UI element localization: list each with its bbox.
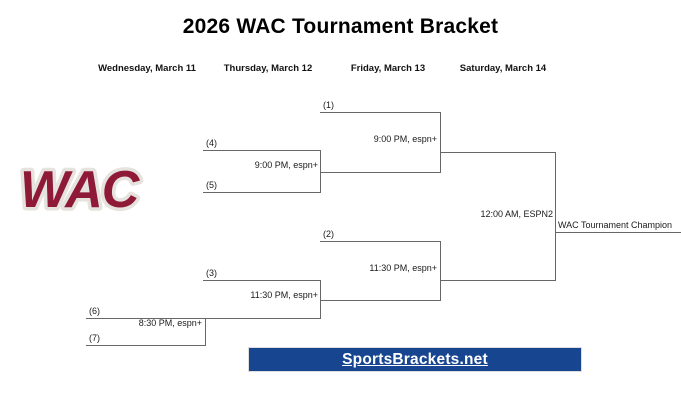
bracket-connector-first-round xyxy=(205,318,206,346)
wac-logo: WAC WAC xyxy=(18,158,190,220)
bracket-line-seed-4 xyxy=(203,150,321,151)
round-header-friday: Friday, March 13 xyxy=(351,63,425,74)
bracket-line-seed-7 xyxy=(86,345,205,346)
bracket-line-semifinal-top-feed xyxy=(320,172,441,173)
page-title: 2026 WAC Tournament Bracket xyxy=(0,15,681,39)
bracket-page: 2026 WAC Tournament Bracket Wednesday, M… xyxy=(0,0,681,400)
bracket-connector-semifinal-top xyxy=(440,112,441,173)
seed-label-6: (6) xyxy=(89,306,100,316)
bracket-connector-semifinal-bottom xyxy=(440,241,441,301)
seed-label-7: (7) xyxy=(89,333,100,343)
seed-label-5: (5) xyxy=(206,180,217,190)
bracket-line-seed-1 xyxy=(320,112,441,113)
bracket-connector-championship xyxy=(555,152,556,281)
game-label-quarterfinal-bottom: 11:30 PM, espn+ xyxy=(214,290,318,300)
bracket-line-first-round-winner xyxy=(205,318,320,319)
bracket-line-seed-2 xyxy=(320,241,441,242)
sportsbrackets-banner-text: SportsBrackets.net xyxy=(342,351,488,369)
sportsbrackets-banner[interactable]: SportsBrackets.net xyxy=(248,347,582,372)
bracket-line-semifinal-bottom-feed xyxy=(320,300,441,301)
game-label-first-round-6-7: 8:30 PM, espn+ xyxy=(105,318,202,328)
seed-label-3: (3) xyxy=(206,268,217,278)
game-label-championship: 12:00 AM, ESPN2 xyxy=(452,209,553,219)
round-header-wednesday: Wednesday, March 11 xyxy=(98,63,196,74)
bracket-line-championship-top xyxy=(440,152,556,153)
bracket-line-seed-5 xyxy=(203,192,321,193)
wac-logo-graphic: WAC WAC xyxy=(18,158,190,220)
champion-label: WAC Tournament Champion xyxy=(558,220,672,230)
wac-logo-text: WAC xyxy=(20,161,141,219)
game-label-semifinal-top: 9:00 PM, espn+ xyxy=(341,134,437,144)
round-header-thursday: Thursday, March 12 xyxy=(224,63,313,74)
bracket-line-championship-bottom xyxy=(440,280,556,281)
game-label-semifinal-bottom: 11:30 PM, espn+ xyxy=(333,263,437,273)
seed-label-1: (1) xyxy=(323,100,334,110)
seed-label-2: (2) xyxy=(323,229,334,239)
round-header-saturday: Saturday, March 14 xyxy=(460,63,546,74)
seed-label-4: (4) xyxy=(206,138,217,148)
bracket-line-champion xyxy=(555,232,681,233)
bracket-line-seed-3 xyxy=(203,280,321,281)
game-label-quarterfinal-top: 9:00 PM, espn+ xyxy=(222,160,318,170)
